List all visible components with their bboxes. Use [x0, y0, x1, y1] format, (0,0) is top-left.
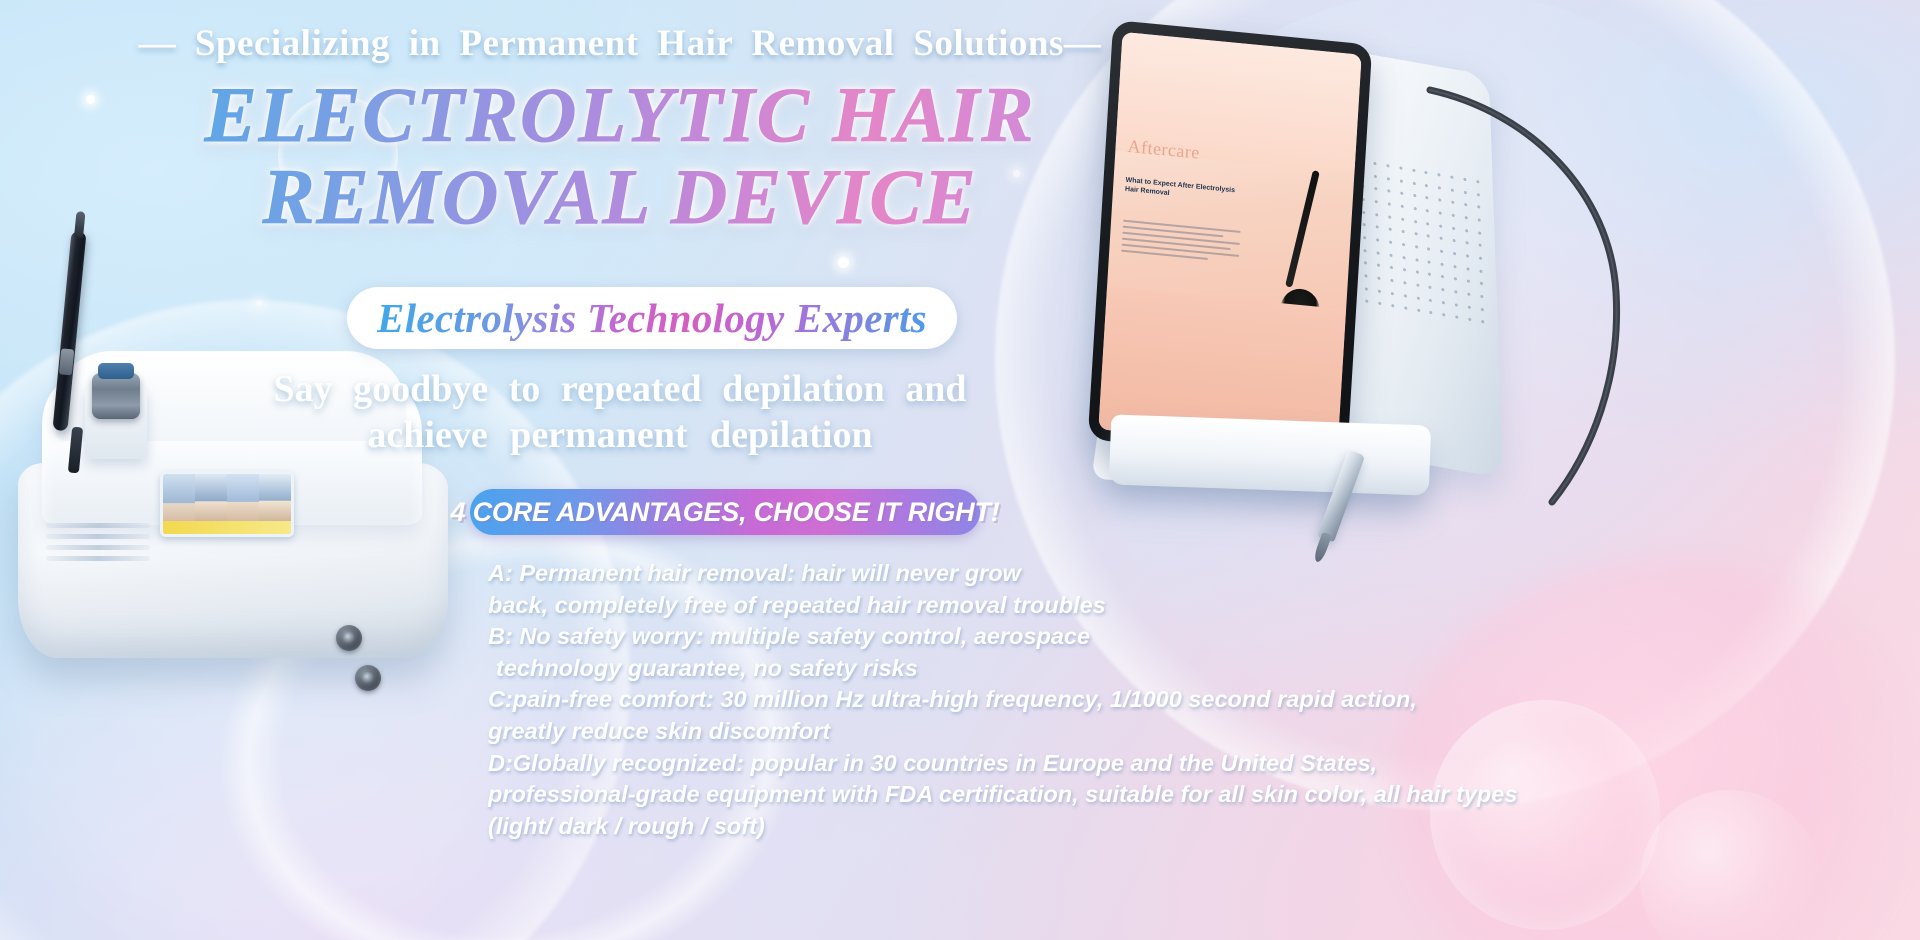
bubble-small [1640, 790, 1820, 940]
pink-blob [1390, 560, 1920, 940]
feature-line: technology guarantee, no safety risks [488, 653, 1388, 685]
device-vent-dots [1347, 157, 1492, 333]
feature-line: back, completely free of repeated hair r… [488, 590, 1388, 622]
promotional-banner: Aftercare What to Expect After Electroly… [0, 0, 1920, 940]
feature-line: C:pain-free comfort: 30 million Hz ultra… [488, 684, 1388, 716]
text-content: — Specializing in Permanent Hair Removal… [0, 0, 1240, 940]
title-line-1: ELECTROLYTIC HAIR [0, 74, 1240, 156]
feature-line: (light/ dark / rough / soft) [488, 811, 1388, 843]
bubble-large [1430, 700, 1660, 930]
advantages-badge-label: 4 CORE ADVANTAGES, CHOOSE IT RIGHT! [450, 497, 999, 528]
page-title: ELECTROLYTIC HAIR REMOVAL DEVICE [0, 74, 1240, 238]
subtitle-line-1: Say goodbye to repeated depilation and [0, 366, 1240, 412]
tagline: — Specializing in Permanent Hair Removal… [0, 22, 1240, 65]
feature-line: A: Permanent hair removal: hair will nev… [488, 558, 1388, 590]
feature-line: professional-grade equipment with FDA ce… [488, 779, 1388, 811]
subtitle-line-2: achieve permanent depilation [0, 412, 1240, 458]
subtitle: Say goodbye to repeated depilation and a… [0, 366, 1240, 458]
expert-pill: Electrolysis Technology Experts [347, 287, 957, 349]
expert-pill-label: Electrolysis Technology Experts [377, 294, 927, 342]
feature-line: B: No safety worry: multiple safety cont… [488, 621, 1388, 653]
feature-line: greatly reduce skin discomfort [488, 716, 1388, 748]
title-line-2: REMOVAL DEVICE [0, 156, 1240, 238]
feature-line: D:Globally recognized: popular in 30 cou… [488, 748, 1388, 780]
advantages-badge: 4 CORE ADVANTAGES, CHOOSE IT RIGHT! [470, 489, 980, 535]
feature-list: A: Permanent hair removal: hair will nev… [488, 558, 1388, 842]
